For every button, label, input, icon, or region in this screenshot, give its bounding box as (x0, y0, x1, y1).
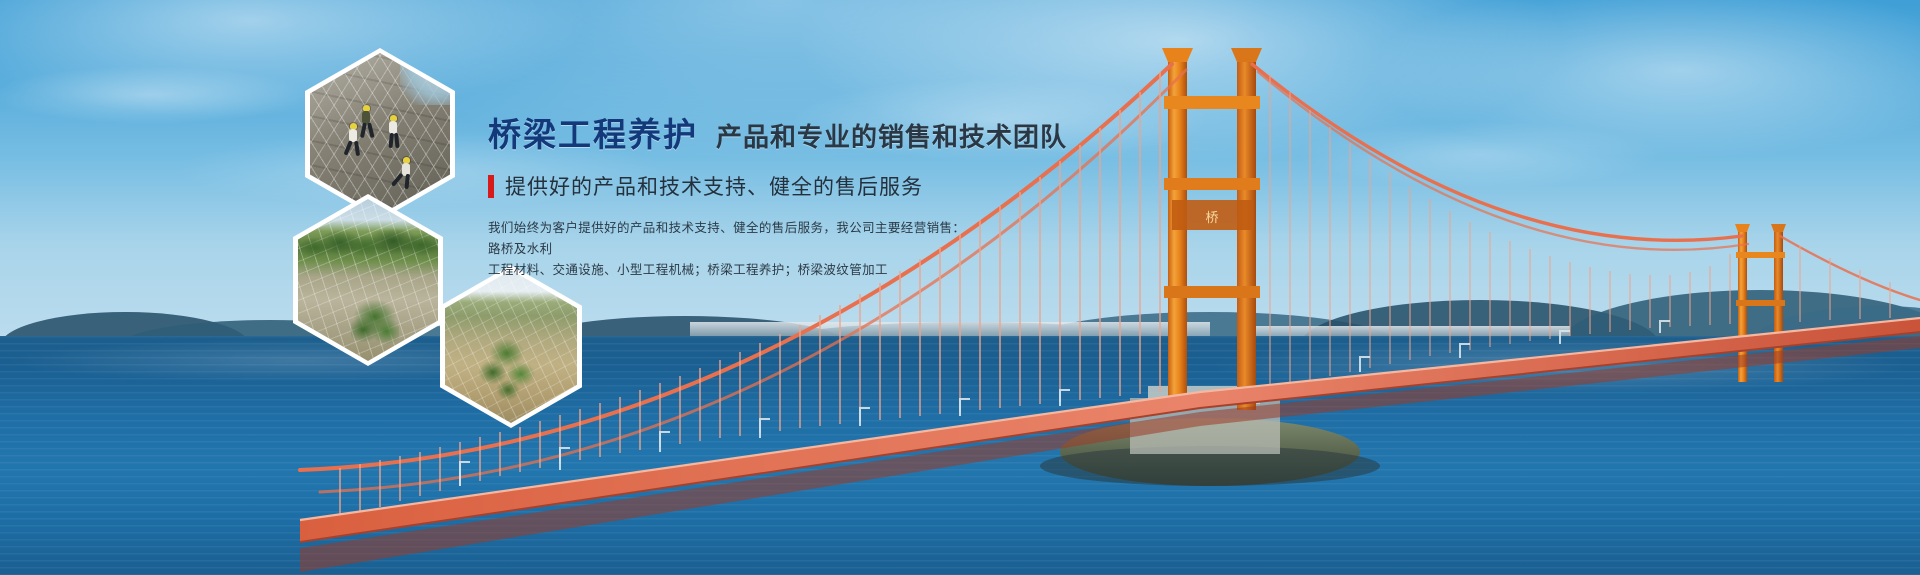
headline-secondary: 产品和专业的销售和技术团队 (716, 124, 1067, 150)
hero-banner: 桥 (0, 0, 1920, 575)
body-copy: 我们始终为客户提供好的产品和技术支持、健全的售后服务，我公司主要经营销售：路桥及… (488, 218, 968, 281)
subheadline-text: 提供好的产品和技术支持、健全的售后服务 (505, 171, 923, 201)
headline-primary: 桥梁工程养护 (488, 118, 698, 151)
banner-text-block: 桥梁工程养护 产品和专业的销售和技术团队 提供好的产品和技术支持、健全的售后服务… (488, 118, 1048, 281)
bridge-main-tower: 桥 (1162, 48, 1262, 410)
suspension-bridge: 桥 (0, 0, 1920, 575)
body-line-1: 我们始终为客户提供好的产品和技术支持、健全的售后服务，我公司主要经营销售：路桥及… (488, 218, 968, 260)
svg-text:桥: 桥 (1205, 211, 1218, 226)
photo-hex-dirt-slope (440, 265, 582, 428)
accent-bar-icon (488, 175, 494, 198)
body-line-2: 工程材料、交通设施、小型工程机械；桥梁工程养护；桥梁波纹管加工 (488, 260, 968, 281)
photo-hex-hillside-slope (293, 194, 443, 366)
headline: 桥梁工程养护 产品和专业的销售和技术团队 (488, 118, 1048, 151)
subheadline: 提供好的产品和技术支持、健全的售后服务 (488, 171, 1048, 201)
